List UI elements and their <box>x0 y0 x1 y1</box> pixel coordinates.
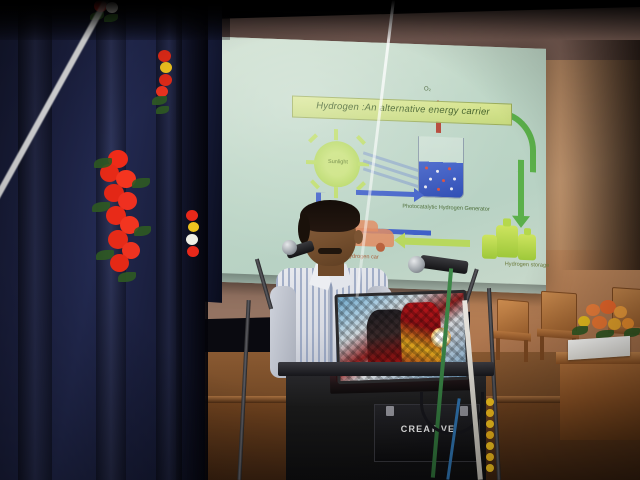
flower <box>187 246 199 257</box>
flower <box>592 316 607 329</box>
flower-garland <box>88 150 152 300</box>
flower-garland <box>150 50 184 180</box>
presenter-mustache <box>318 248 342 254</box>
podium-latch <box>386 406 394 416</box>
shirt-placket <box>328 276 333 374</box>
podium-top <box>278 362 494 376</box>
microphone-head <box>282 240 297 255</box>
leaf <box>156 106 169 114</box>
flower-garland <box>182 210 208 300</box>
chair-leg <box>540 336 544 360</box>
flower <box>158 50 171 62</box>
flower <box>586 304 600 316</box>
photo-scene: Sunlight O₂ H <box>0 0 640 480</box>
leaf <box>152 96 167 105</box>
marigold-flower <box>486 398 494 406</box>
microphone-head <box>408 256 425 273</box>
top-shadow <box>0 0 640 40</box>
wall-shadow <box>560 40 640 270</box>
marigold-flower <box>486 453 494 461</box>
flower <box>160 62 172 73</box>
marigold-flower <box>486 409 494 417</box>
leaf <box>134 226 151 236</box>
leaf <box>132 178 150 188</box>
stage-table <box>560 360 640 440</box>
presenter-hair-side <box>298 214 310 244</box>
flower <box>188 222 199 232</box>
flower <box>614 306 627 318</box>
chair-leg <box>496 338 500 360</box>
marigold-garland <box>486 398 494 478</box>
marigold-flower <box>486 464 494 472</box>
flower <box>186 210 198 221</box>
flower <box>159 74 172 86</box>
leaf <box>118 272 136 282</box>
flower <box>186 234 198 245</box>
curtain-fold <box>18 0 52 480</box>
marigold-flower <box>486 442 494 450</box>
flower <box>608 318 621 330</box>
chair-leg <box>524 340 528 362</box>
marigold-flower <box>486 420 494 428</box>
leaf <box>572 326 588 335</box>
marigold-flower <box>486 431 494 439</box>
